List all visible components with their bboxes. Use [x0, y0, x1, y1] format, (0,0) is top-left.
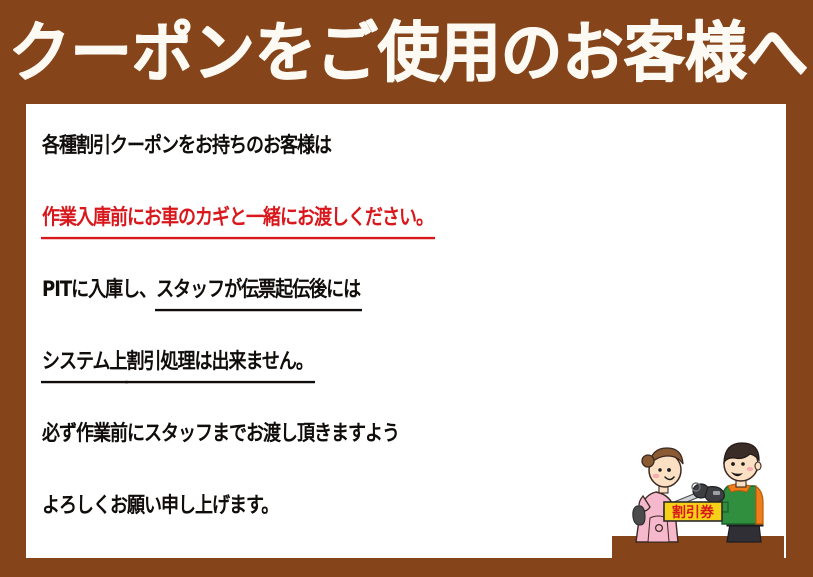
notice-line-5-text: 必ず作業前にスタッフまでお渡し頂きますよう [42, 423, 399, 444]
notice-text-block: 各種割引クーポンをお持ちのお客様は 作業入庫前にお車のカギと一緒にお渡しください… [42, 110, 786, 542]
poster-title-band: クーポンをご使用のお客様へ [0, 0, 813, 104]
notice-line-3: PITに入庫し、 スタッフが伝票起伝後には [42, 254, 786, 326]
notice-line-4-text-underlined: システム上 [42, 351, 126, 372]
signage-poster: クーポンをご使用のお客様へ 各種割引クーポンをお持ちのお客様は 作業入庫前にお車… [0, 0, 813, 577]
page-title: クーポンをご使用のお客様へ [5, 20, 808, 85]
notice-line-2-text: 作業入庫前にお車のカギと一緒にお渡しください。 [42, 207, 433, 228]
notice-line-2-emphasis: 作業入庫前にお車のカギと一緒にお渡しください。 [42, 182, 786, 254]
poster-body-panel: 各種割引クーポンをお持ちのお客様は 作業入庫前にお車のカギと一緒にお渡しください… [26, 104, 786, 558]
notice-line-4-text-rest: 割引処理は出来ません。 [126, 351, 312, 372]
notice-line-1: 各種割引クーポンをお持ちのお客様は [42, 110, 786, 182]
notice-line-3-text-plain: PITに入庫し、 [42, 279, 156, 300]
notice-line-1-text: 各種割引クーポンをお持ちのお客様は [42, 135, 331, 156]
notice-line-4: システム上 割引処理は出来ません。 [42, 326, 786, 398]
notice-line-3-text-underlined: スタッフが伝票起伝後には [156, 279, 360, 300]
notice-line-6: よろしくお願い申し上げます。 [42, 470, 786, 542]
notice-line-5: 必ず作業前にスタッフまでお渡し頂きますよう [42, 398, 786, 470]
notice-line-6-text: よろしくお願い申し上げます。 [42, 495, 278, 516]
